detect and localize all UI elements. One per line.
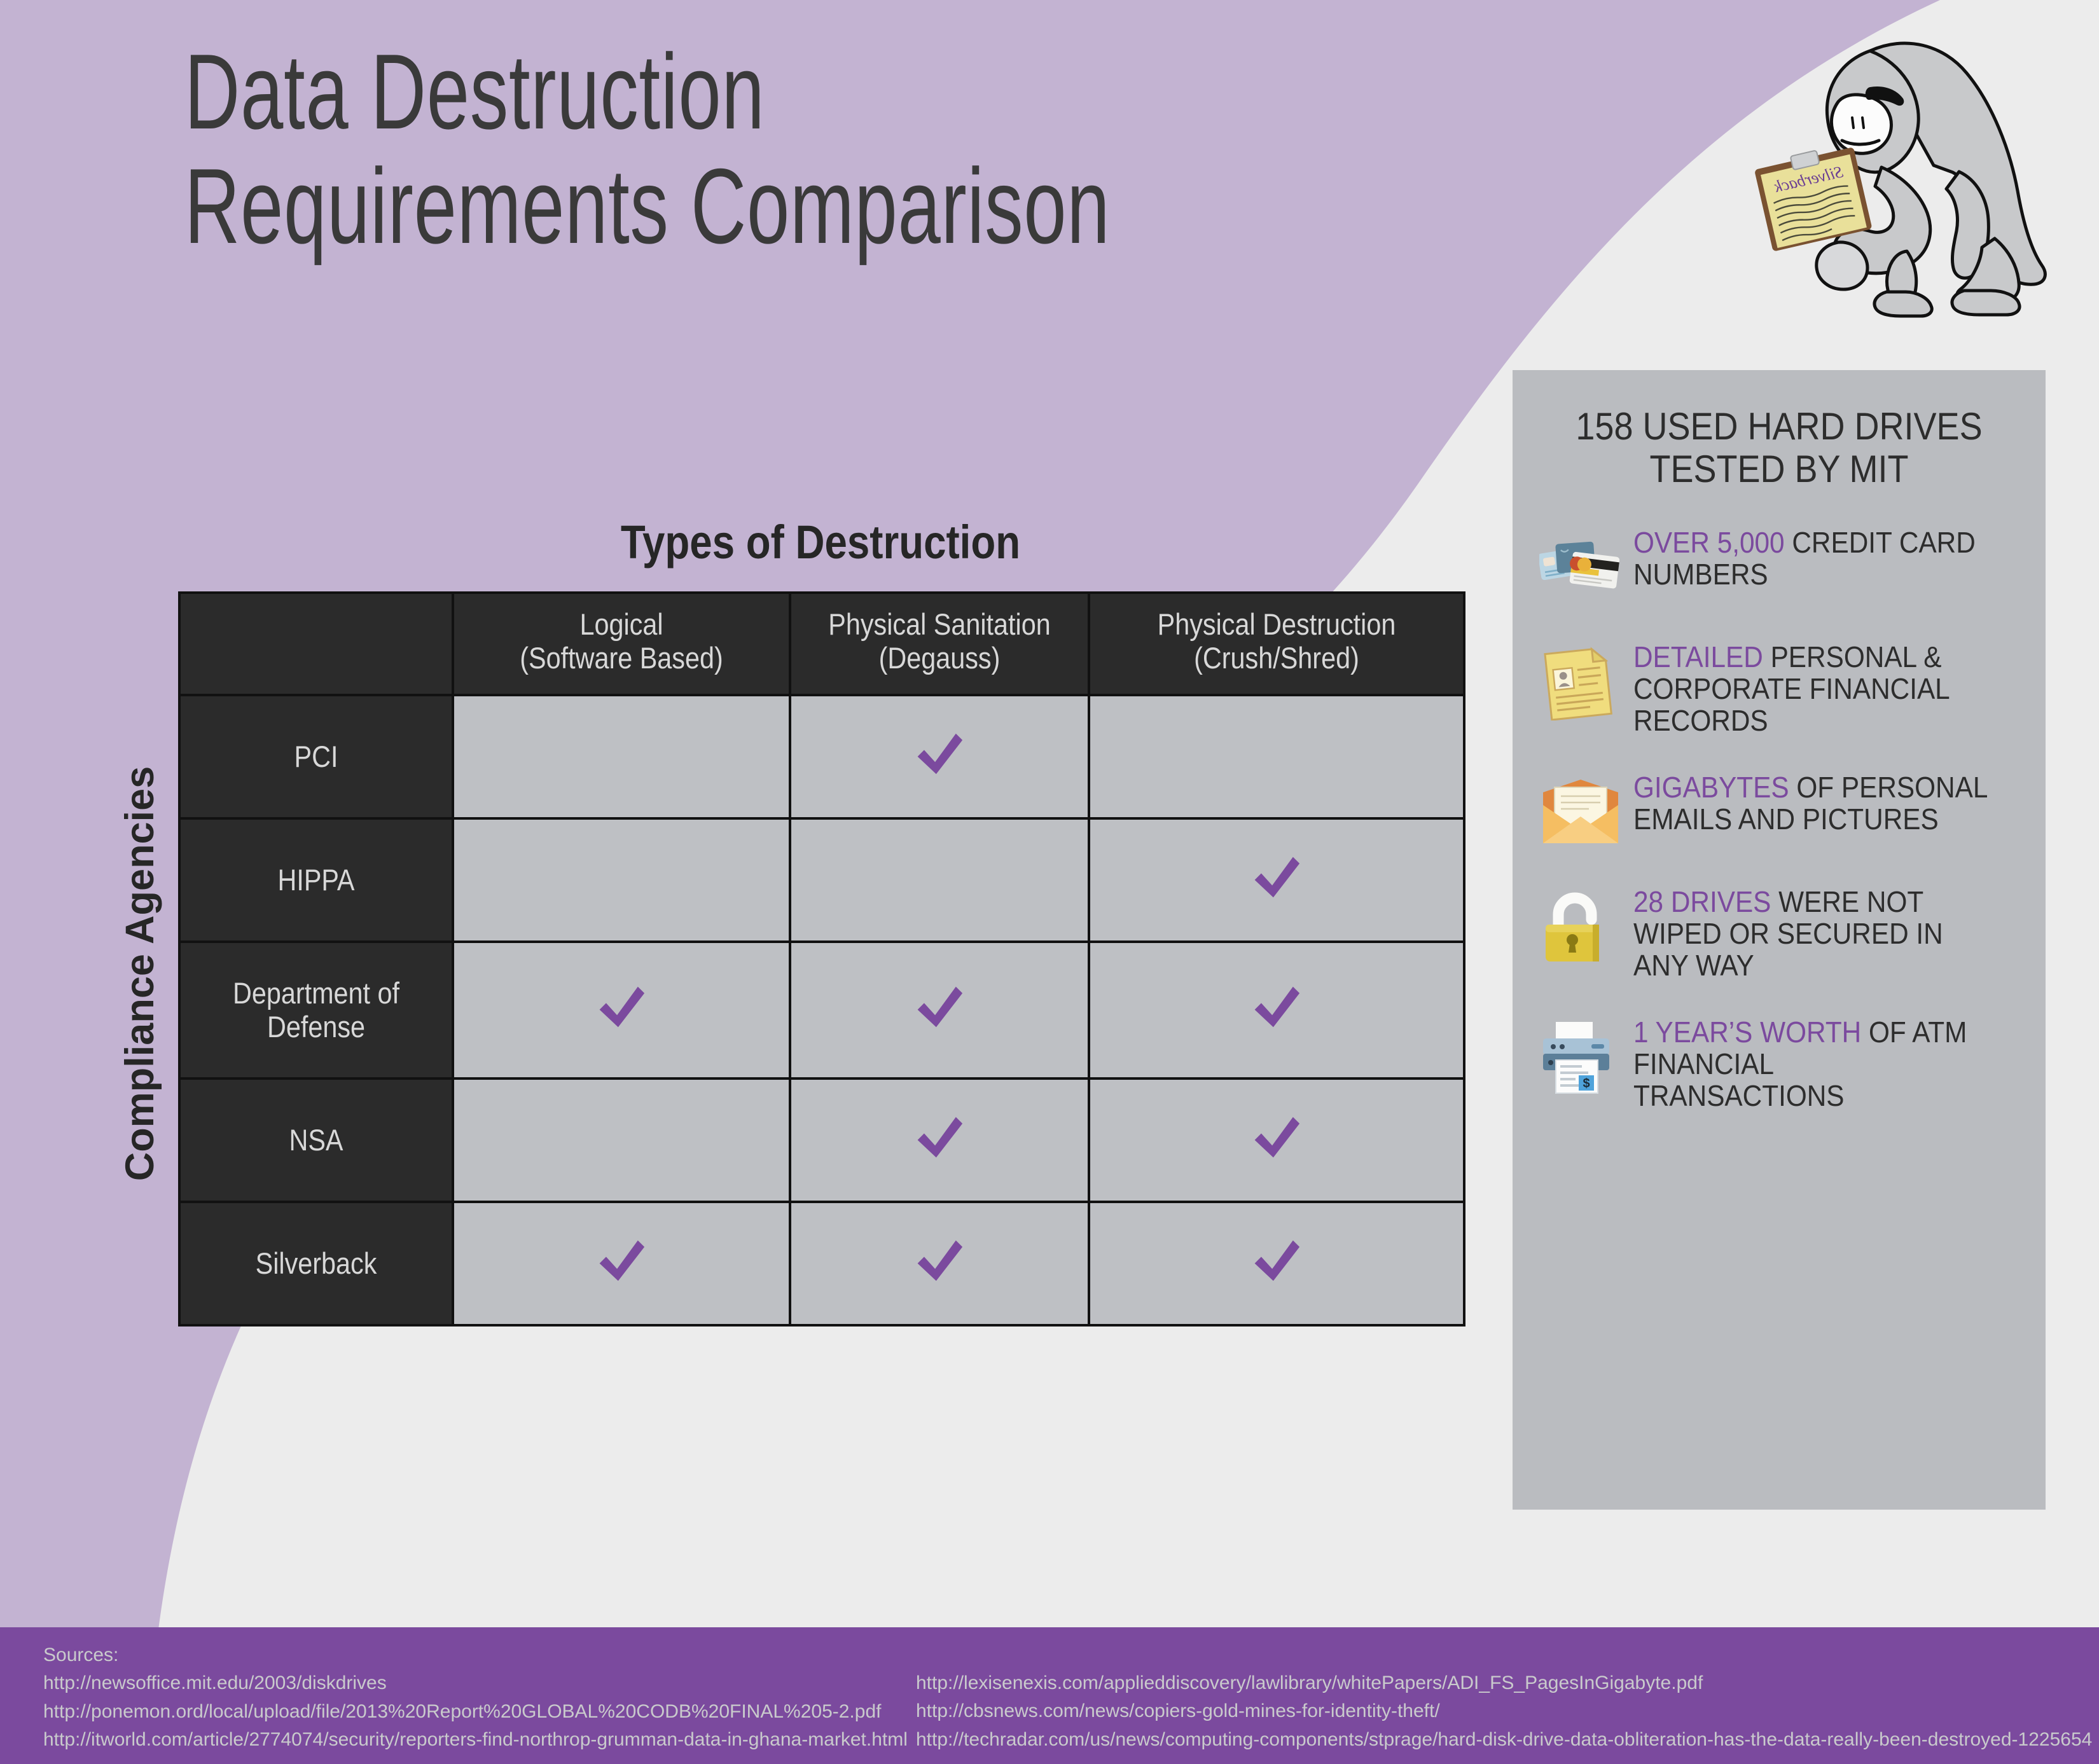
page-title: Data Destruction Requirements Comparison xyxy=(184,35,1110,264)
stat-item-credit-cards: OVER 5,000 CREDIT CARD NUMBERS xyxy=(1539,527,2019,606)
column-header-physical-sanitation-line1: Physical Sanitation xyxy=(814,608,1065,642)
column-header-physical-sanitation: Physical Sanitation (Degauss) xyxy=(790,593,1089,695)
checkmark-icon xyxy=(1249,1235,1304,1290)
envelope-icon xyxy=(1539,776,1622,851)
source-link-ponemon[interactable]: http://ponemon.ord/local/upload/file/201… xyxy=(43,1698,916,1726)
stat-text-credit-cards: OVER 5,000 CREDIT CARD NUMBERS xyxy=(1633,527,1988,590)
cell-pci-physical-destruction xyxy=(1089,695,1464,818)
source-link-mit[interactable]: http://newsoffice.mit.edu/2003/diskdrive… xyxy=(43,1669,916,1697)
column-group-heading: Types of Destruction xyxy=(268,515,1373,569)
row-label-pci: PCI xyxy=(179,695,453,818)
checkmark-icon xyxy=(912,728,967,783)
stat-text-atm-transactions: 1 YEAR’S WORTH OF ATM FINANCIAL TRANSACT… xyxy=(1633,1017,1988,1112)
row-label-nsa: NSA xyxy=(179,1078,453,1202)
checkmark-icon xyxy=(1249,1112,1304,1166)
cell-pci-physical-sanitation xyxy=(790,695,1089,818)
source-link-techradar[interactable]: http://techradar.com/us/news/computing-c… xyxy=(916,1726,2099,1754)
table-head: Logical (Software Based) Physical Sanita… xyxy=(179,593,1464,695)
cell-hippa-logical xyxy=(453,818,790,942)
stat-accent-credit-cards: OVER 5,000 xyxy=(1633,526,1785,559)
cell-dod-physical-sanitation xyxy=(790,942,1089,1078)
cell-silverback-physical-destruction xyxy=(1089,1202,1464,1325)
cell-silverback-logical xyxy=(453,1202,790,1325)
checkmark-icon xyxy=(912,1235,967,1290)
table-row: NSA xyxy=(179,1078,1464,1202)
stat-accent-emails-pictures: GIGABYTES xyxy=(1633,771,1789,804)
stat-accent-atm-transactions: 1 YEAR’S WORTH xyxy=(1633,1016,1861,1049)
destruction-requirements-table: Logical (Software Based) Physical Sanita… xyxy=(178,591,1465,1326)
row-label-silverback: Silverback xyxy=(179,1202,453,1325)
padlock-icon xyxy=(1539,890,1622,965)
checkmark-icon xyxy=(594,1235,649,1290)
printer-icon: $ xyxy=(1539,1021,1622,1096)
checkmark-icon xyxy=(912,1112,967,1166)
column-header-physical-destruction-line2: (Crush/Shred) xyxy=(1117,642,1436,675)
table-corner-cell xyxy=(179,593,453,695)
cell-silverback-physical-sanitation xyxy=(790,1202,1089,1325)
cell-hippa-physical-destruction xyxy=(1089,818,1464,942)
cell-dod-logical xyxy=(453,942,790,1078)
cell-nsa-physical-sanitation xyxy=(790,1078,1089,1202)
statistics-title-line2: TESTED BY MIT xyxy=(1563,448,1995,490)
checkmark-icon xyxy=(912,981,967,1036)
id-document-icon xyxy=(1539,645,1622,720)
table-row: Department of Defense xyxy=(179,942,1464,1078)
checkmark-icon xyxy=(1249,981,1304,1036)
column-header-logical-line1: Logical xyxy=(479,608,765,642)
cell-dod-physical-destruction xyxy=(1089,942,1464,1078)
table-row: HIPPA xyxy=(179,818,1464,942)
sources-heading: Sources: xyxy=(43,1641,916,1669)
cell-pci-logical xyxy=(453,695,790,818)
statistics-panel: 158 USED HARD DRIVES TESTED BY MIT xyxy=(1513,370,2046,1510)
sources-right-column: http://lexisenexis.com/applieddiscovery/… xyxy=(916,1641,2099,1754)
svg-text:$: $ xyxy=(1583,1077,1590,1091)
cell-nsa-physical-destruction xyxy=(1089,1078,1464,1202)
source-link-cbsnews[interactable]: http://cbsnews.com/news/copiers-gold-min… xyxy=(916,1697,2099,1725)
stat-text-financial-records: DETAILED PERSONAL & CORPORATE FINANCIAL … xyxy=(1633,642,1988,736)
column-header-logical-line2: (Software Based) xyxy=(479,642,765,675)
column-header-physical-destruction-line1: Physical Destruction xyxy=(1117,608,1436,642)
page-title-line2: Requirements Comparison xyxy=(184,149,1110,264)
silverback-gorilla-icon: Silverback xyxy=(1743,29,2074,327)
stat-text-unwiped-drives: 28 DRIVES WERE NOT WIPED OR SECURED IN A… xyxy=(1633,886,1988,981)
stat-accent-financial-records: DETAILED xyxy=(1633,640,1763,673)
stat-text-emails-pictures: GIGABYTES OF PERSONAL EMAILS AND PICTURE… xyxy=(1633,772,1988,835)
cell-hippa-physical-sanitation xyxy=(790,818,1089,942)
stat-item-emails-pictures: GIGABYTES OF PERSONAL EMAILS AND PICTURE… xyxy=(1539,772,2019,851)
cell-nsa-logical xyxy=(453,1078,790,1202)
column-header-logical: Logical (Software Based) xyxy=(453,593,790,695)
column-header-physical-sanitation-line2: (Degauss) xyxy=(814,642,1065,675)
stat-item-unwiped-drives: 28 DRIVES WERE NOT WIPED OR SECURED IN A… xyxy=(1539,886,2019,981)
column-header-physical-destruction: Physical Destruction (Crush/Shred) xyxy=(1089,593,1464,695)
sources-footer: Sources: http://newsoffice.mit.edu/2003/… xyxy=(0,1627,2099,1764)
stat-accent-unwiped-drives: 28 DRIVES xyxy=(1633,885,1771,918)
table-row: PCI xyxy=(179,695,1464,818)
credit-cards-icon xyxy=(1539,531,1622,606)
checkmark-icon xyxy=(594,981,649,1036)
stat-item-atm-transactions: $ 1 YEAR’S WORTH OF ATM FINANCIAL TRANSA… xyxy=(1539,1017,2019,1112)
source-link-lexisnexis[interactable]: http://lexisenexis.com/applieddiscovery/… xyxy=(916,1669,2099,1697)
table-body: PCI HIPPA Department xyxy=(179,695,1464,1325)
table-header-row: Logical (Software Based) Physical Sanita… xyxy=(179,593,1464,695)
sources-left-column: Sources: http://newsoffice.mit.edu/2003/… xyxy=(0,1641,916,1754)
source-link-itworld[interactable]: http://itworld.com/article/2774074/secur… xyxy=(43,1726,916,1754)
checkmark-icon xyxy=(1249,851,1304,906)
row-label-department-of-defense: Department of Defense xyxy=(179,942,453,1078)
page-title-line1: Data Destruction xyxy=(184,35,1110,149)
statistics-title-line1: 158 USED HARD DRIVES xyxy=(1563,405,1995,448)
stat-item-financial-records: DETAILED PERSONAL & CORPORATE FINANCIAL … xyxy=(1539,642,2019,736)
row-label-hippa: HIPPA xyxy=(179,818,453,942)
row-group-heading: Compliance Agencies xyxy=(117,694,163,1253)
table-row: Silverback xyxy=(179,1202,1464,1325)
statistics-panel-title: 158 USED HARD DRIVES TESTED BY MIT xyxy=(1563,405,1995,490)
